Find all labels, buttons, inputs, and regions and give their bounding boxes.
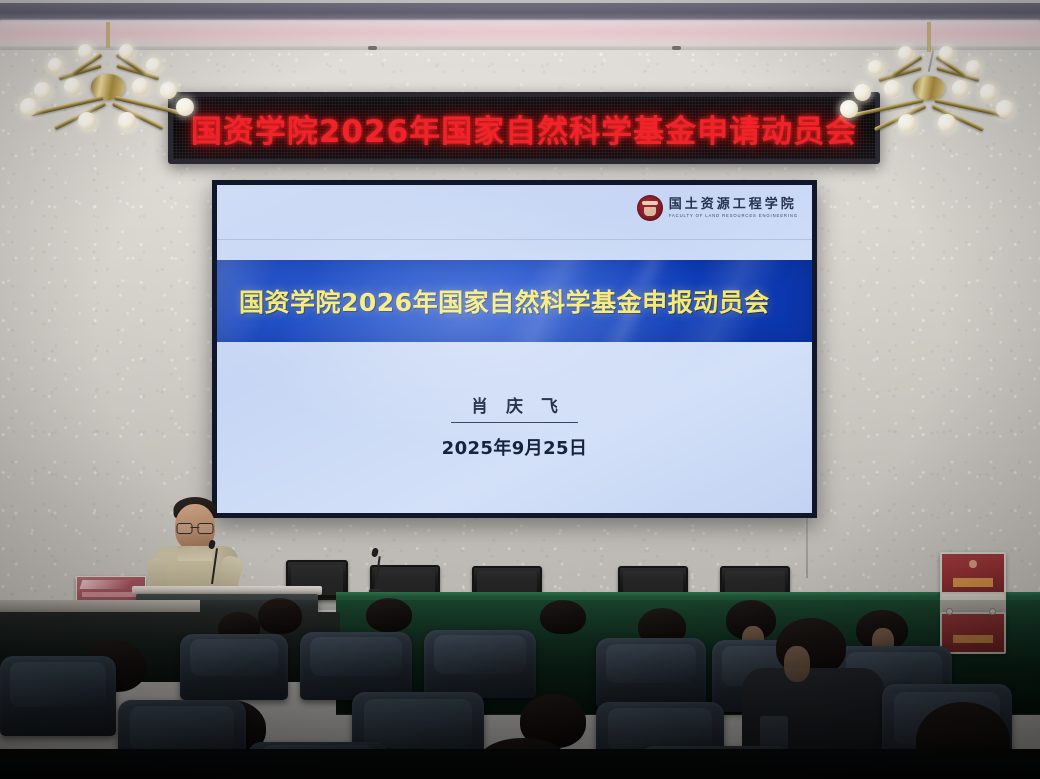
audience-head bbox=[366, 598, 412, 632]
presentation-date: 2025年9月25日 bbox=[217, 434, 812, 460]
powerpoint-slide: 国土资源工程学院 FACULTY OF LAND RESOURCES ENGIN… bbox=[217, 185, 812, 513]
chandelier-bulb bbox=[78, 44, 93, 59]
conference-room-photo: 国资学院2026年国家自然科学基金申请动员会 bbox=[0, 0, 1040, 779]
chandelier-bulb bbox=[966, 60, 981, 75]
chandelier-left bbox=[18, 22, 198, 162]
chandelier-bulb bbox=[48, 58, 63, 73]
logo-name-cn: 国土资源工程学院 bbox=[669, 198, 798, 212]
logo-text-group: 国土资源工程学院 FACULTY OF LAND RESOURCES ENGIN… bbox=[669, 198, 798, 218]
fire-cabinet-emblem-icon bbox=[969, 560, 976, 569]
slide-logo: 国土资源工程学院 FACULTY OF LAND RESOURCES ENGIN… bbox=[637, 195, 798, 221]
microphone-stem bbox=[211, 548, 218, 584]
chandelier-bulb bbox=[176, 98, 194, 116]
ceiling-cove-dark-band bbox=[0, 3, 1040, 20]
audience-head bbox=[258, 598, 302, 634]
audience-seat bbox=[424, 630, 536, 698]
audience-seat bbox=[0, 656, 116, 736]
fire-equipment-cabinet bbox=[940, 552, 1002, 650]
slide-header-rule bbox=[217, 239, 812, 240]
led-banner: 国资学院2026年国家自然科学基金申请动员会 bbox=[168, 92, 880, 164]
chandelier-body-upper bbox=[917, 50, 941, 78]
presenter-person bbox=[140, 500, 250, 600]
chandelier-bulb bbox=[854, 84, 871, 101]
chandelier-bulb bbox=[939, 46, 954, 61]
fire-cabinet-latch bbox=[989, 608, 996, 615]
led-banner-panel: 国资学院2026年国家自然科学基金申请动员会 bbox=[173, 97, 875, 159]
audience-seat bbox=[300, 632, 412, 700]
fire-cabinet-latch bbox=[946, 608, 953, 615]
chandelier-bulb bbox=[119, 44, 134, 59]
audience-seat bbox=[596, 638, 706, 708]
fire-cabinet-label bbox=[953, 578, 993, 587]
audience-seat bbox=[180, 634, 288, 700]
chandelier-bulb bbox=[884, 80, 901, 97]
chandelier-bulb bbox=[160, 82, 177, 99]
chandelier-body-lower bbox=[913, 76, 945, 100]
chandelier-bulb bbox=[898, 114, 916, 132]
floor bbox=[0, 749, 1040, 779]
chandelier-bulb bbox=[938, 114, 956, 132]
chandelier-bulb bbox=[20, 98, 38, 116]
slide-title-text: 国资学院2026年国家自然科学基金申报动员会 bbox=[239, 283, 770, 319]
fire-cabinet-lower-box bbox=[940, 612, 1006, 654]
presenter-glasses-icon bbox=[177, 523, 214, 532]
chandelier-right bbox=[840, 22, 1018, 162]
chandelier-bulb bbox=[34, 82, 51, 99]
chandelier-bulb bbox=[146, 58, 161, 73]
projection-screen: 国土资源工程学院 FACULTY OF LAND RESOURCES ENGIN… bbox=[212, 180, 817, 518]
fire-cabinet-label bbox=[953, 635, 993, 643]
microphone-stem bbox=[374, 556, 381, 590]
microphone-head bbox=[208, 539, 216, 549]
chandelier-bulb bbox=[898, 46, 913, 61]
audience-face bbox=[784, 646, 810, 682]
chandelier-bulb bbox=[132, 78, 149, 95]
chandelier-bulb bbox=[118, 112, 136, 130]
table-microphone bbox=[366, 548, 388, 598]
presenter-name: 肖 庆 飞 bbox=[451, 392, 578, 423]
logo-name-en: FACULTY OF LAND RESOURCES ENGINEERING bbox=[669, 213, 798, 218]
led-banner-text: 国资学院2026年国家自然科学基金申请动员会 bbox=[191, 106, 857, 151]
chandelier-bulb bbox=[996, 100, 1014, 118]
slide-title-band: 国资学院2026年国家自然科学基金申报动员会 bbox=[217, 260, 812, 342]
audience-head bbox=[540, 600, 586, 634]
chandelier-bulb bbox=[840, 100, 858, 118]
chandelier-rod bbox=[107, 22, 110, 48]
chandelier-bulb bbox=[64, 78, 81, 95]
slide-presenter-block: 肖 庆 飞 2025年9月25日 bbox=[217, 392, 812, 460]
chandelier-body-upper bbox=[95, 46, 121, 76]
chandelier-bulb bbox=[952, 80, 969, 97]
chandelier-rod bbox=[928, 22, 931, 52]
projector-glow bbox=[217, 185, 812, 513]
sign-glare bbox=[80, 580, 131, 589]
chandelier-bulb bbox=[868, 60, 883, 75]
university-emblem-icon bbox=[637, 195, 663, 221]
chandelier-arm bbox=[850, 98, 923, 117]
podium-microphone bbox=[204, 540, 220, 588]
fire-cabinet-upper-box bbox=[940, 552, 1006, 596]
chandelier-bulb bbox=[980, 84, 997, 101]
chandelier-bulb bbox=[78, 112, 96, 130]
